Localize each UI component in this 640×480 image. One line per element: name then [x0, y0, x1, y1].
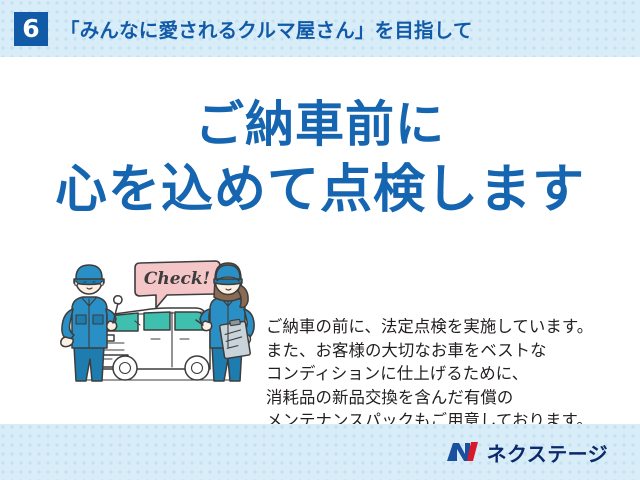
content-row: .ol { fill:none; stroke:#3d3d3d; stroke-…	[0, 245, 640, 405]
header-title: 「みんなに愛されるクルマ屋さん」を目指して	[60, 14, 473, 43]
brand-lockup: ネクステージ	[446, 438, 608, 467]
header-band: 6 「みんなに愛されるクルマ屋さん」を目指して	[0, 0, 640, 57]
footer-band: ネクステージ	[0, 424, 640, 480]
illustration-svg: .ol { fill:none; stroke:#3d3d3d; stroke-…	[52, 251, 262, 387]
headline-line-1: ご納車前に	[0, 93, 640, 157]
advertisement-banner: 6 「みんなに愛されるクルマ屋さん」を目指して ご納車前に 心を込めて点検します…	[0, 0, 640, 480]
speech-bubble-label: Check!	[144, 269, 210, 289]
headline-line-2: 心を込めて点検します	[0, 157, 640, 225]
section-number-badge: 6	[14, 12, 48, 46]
headline: ご納車前に 心を込めて点検します	[0, 93, 640, 224]
clipboard	[220, 319, 251, 359]
body-line: コンディションに仕上げるために、	[266, 362, 630, 386]
main-panel: ご納車前に 心を込めて点検します .ol { fill:none; stroke…	[0, 57, 640, 424]
body-line: また、お客様の大切なお車をベストな	[266, 339, 630, 363]
brand-name: ネクステージ	[487, 438, 608, 467]
body-line: ご納車の前に、法定点検を実施しています。	[266, 315, 630, 339]
body-line: 消耗品の新品交換を含んだ有償の	[266, 386, 630, 410]
mechanics-illustration: .ol { fill:none; stroke:#3d3d3d; stroke-…	[52, 251, 262, 387]
nextage-n-logo-icon	[446, 440, 480, 464]
check-speech-bubble: Check!	[135, 261, 220, 308]
